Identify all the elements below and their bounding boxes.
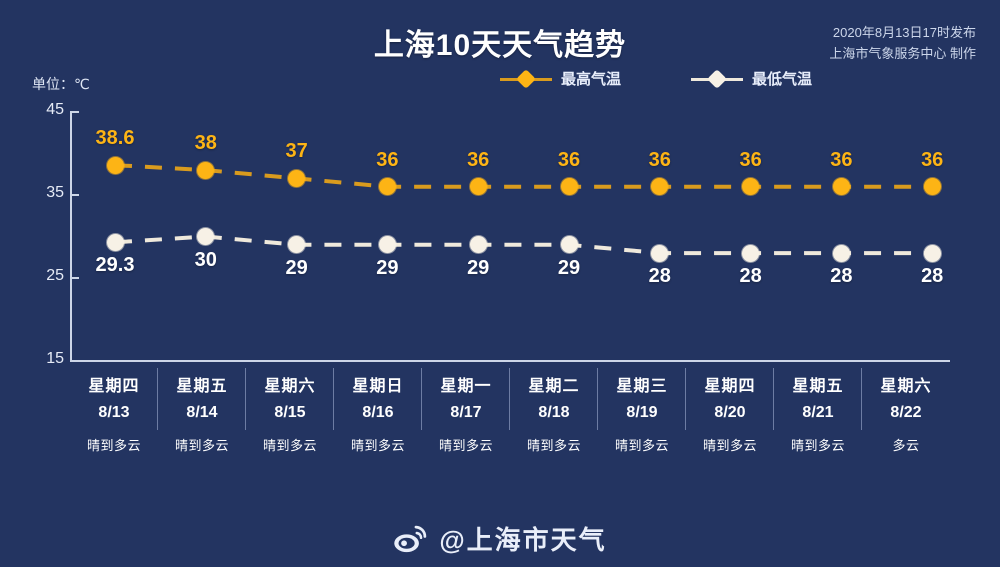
- high-temp-point: [197, 162, 214, 179]
- day-condition: 晴到多云: [70, 435, 158, 454]
- high-temp-value: 37: [285, 140, 307, 163]
- publish-info: 2020年8月13日17时发布 上海市气象服务中心 制作: [829, 22, 976, 64]
- low-temp-value: 28: [649, 265, 671, 288]
- footer-attribution: @上海市天气: [0, 520, 1000, 557]
- day-condition: 晴到多云: [246, 435, 334, 454]
- day-column[interactable]: 星期三8/19晴到多云: [598, 362, 686, 467]
- low-temp-value: 29.3: [96, 254, 135, 277]
- day-column[interactable]: 星期一8/17晴到多云: [422, 362, 510, 467]
- high-temp-point: [288, 170, 305, 187]
- low-temp-point: [470, 236, 487, 253]
- axis-unit-label: 单位：℃: [32, 74, 90, 94]
- y-axis-tick: [70, 194, 79, 196]
- high-temp-value: 38.6: [96, 127, 135, 150]
- day-weekday: 星期四: [70, 372, 158, 396]
- y-axis-tick: [70, 277, 79, 279]
- day-column[interactable]: 星期四8/13晴到多云: [70, 362, 158, 467]
- high-temp-value: 36: [467, 149, 489, 172]
- low-temp-value: 29: [376, 257, 398, 280]
- day-weekday: 星期三: [598, 372, 686, 396]
- day-weekday: 星期二: [510, 372, 598, 396]
- legend-label-high: 最高气温: [561, 68, 621, 89]
- high-temp-value: 36: [830, 149, 852, 172]
- low-temp-value: 28: [921, 265, 943, 288]
- low-temp-value: 29: [285, 257, 307, 280]
- high-temp-value: 36: [558, 149, 580, 172]
- day-column[interactable]: 星期日8/16晴到多云: [334, 362, 422, 467]
- low-temp-point: [107, 234, 124, 251]
- publish-time: 2020年8月13日17时发布: [829, 22, 976, 43]
- low-temp-value: 28: [830, 265, 852, 288]
- day-condition: 多云: [862, 435, 950, 454]
- day-weekday: 星期四: [686, 372, 774, 396]
- low-temp-point: [742, 245, 759, 262]
- day-column[interactable]: 星期六8/22多云: [862, 362, 950, 467]
- low-temp-point: [924, 245, 941, 262]
- weibo-icon: [393, 524, 427, 554]
- y-axis-tick-label: 45: [24, 101, 64, 119]
- day-date: 8/19: [598, 404, 686, 422]
- day-column[interactable]: 星期二8/18晴到多云: [510, 362, 598, 467]
- low-temp-line: [115, 237, 932, 254]
- weibo-handle: @上海市天气: [439, 520, 606, 557]
- low-temp-value: 29: [467, 257, 489, 280]
- day-columns: 星期四8/13晴到多云星期五8/14晴到多云星期六8/15晴到多云星期日8/16…: [70, 362, 950, 467]
- day-date: 8/21: [774, 404, 862, 422]
- high-temp-point: [107, 157, 124, 174]
- high-temp-line: [115, 165, 932, 187]
- high-temp-value: 36: [921, 149, 943, 172]
- day-column[interactable]: 星期六8/15晴到多云: [246, 362, 334, 467]
- y-axis-tick: [70, 111, 79, 113]
- legend-marker-low-icon: [691, 71, 743, 87]
- low-temp-point: [288, 236, 305, 253]
- low-temp-value: 29: [558, 257, 580, 280]
- day-condition: 晴到多云: [334, 435, 422, 454]
- high-temp-point: [379, 178, 396, 195]
- day-weekday: 星期六: [862, 372, 950, 396]
- low-temp-point: [651, 245, 668, 262]
- day-condition: 晴到多云: [422, 435, 510, 454]
- day-column[interactable]: 星期五8/21晴到多云: [774, 362, 862, 467]
- day-condition: 晴到多云: [686, 435, 774, 454]
- day-weekday: 星期五: [774, 372, 862, 396]
- high-temp-value: 36: [739, 149, 761, 172]
- day-condition: 晴到多云: [774, 435, 862, 454]
- day-date: 8/20: [686, 404, 774, 422]
- y-axis-tick-label: 15: [24, 350, 64, 368]
- high-temp-value: 38: [195, 132, 217, 155]
- y-axis-tick-label: 35: [24, 184, 64, 202]
- day-condition: 晴到多云: [158, 435, 246, 454]
- day-weekday: 星期一: [422, 372, 510, 396]
- high-temp-point: [651, 178, 668, 195]
- high-temp-point: [470, 178, 487, 195]
- high-temp-point: [561, 178, 578, 195]
- day-date: 8/14: [158, 404, 246, 422]
- legend-item-high: 最高气温: [500, 68, 621, 89]
- weather-trend-chart: 上海10天天气趋势 2020年8月13日17时发布 上海市气象服务中心 制作 最…: [0, 0, 1000, 567]
- low-temp-value: 30: [195, 249, 217, 272]
- low-temp-point: [197, 228, 214, 245]
- low-temp-point: [379, 236, 396, 253]
- day-date: 8/13: [70, 404, 158, 422]
- legend-label-low: 最低气温: [752, 68, 812, 89]
- high-temp-point: [833, 178, 850, 195]
- high-temp-point: [742, 178, 759, 195]
- y-axis-line: [70, 112, 72, 361]
- legend-marker-high-icon: [500, 71, 552, 87]
- day-condition: 晴到多云: [510, 435, 598, 454]
- y-axis-tick-label: 25: [24, 267, 64, 285]
- low-temp-point: [833, 245, 850, 262]
- publisher-name: 上海市气象服务中心 制作: [829, 43, 976, 64]
- day-date: 8/22: [862, 404, 950, 422]
- legend-item-low: 最低气温: [691, 68, 812, 89]
- day-column[interactable]: 星期四8/20晴到多云: [686, 362, 774, 467]
- day-weekday: 星期日: [334, 372, 422, 396]
- chart-legend: 最高气温 最低气温: [500, 68, 812, 89]
- day-date: 8/15: [246, 404, 334, 422]
- day-date: 8/17: [422, 404, 510, 422]
- high-temp-point: [924, 178, 941, 195]
- day-date: 8/16: [334, 404, 422, 422]
- day-condition: 晴到多云: [598, 435, 686, 454]
- low-temp-point: [561, 236, 578, 253]
- day-date: 8/18: [510, 404, 598, 422]
- low-temp-value: 28: [739, 265, 761, 288]
- high-temp-value: 36: [376, 149, 398, 172]
- day-column[interactable]: 星期五8/14晴到多云: [158, 362, 246, 467]
- day-weekday: 星期六: [246, 372, 334, 396]
- day-weekday: 星期五: [158, 372, 246, 396]
- high-temp-value: 36: [649, 149, 671, 172]
